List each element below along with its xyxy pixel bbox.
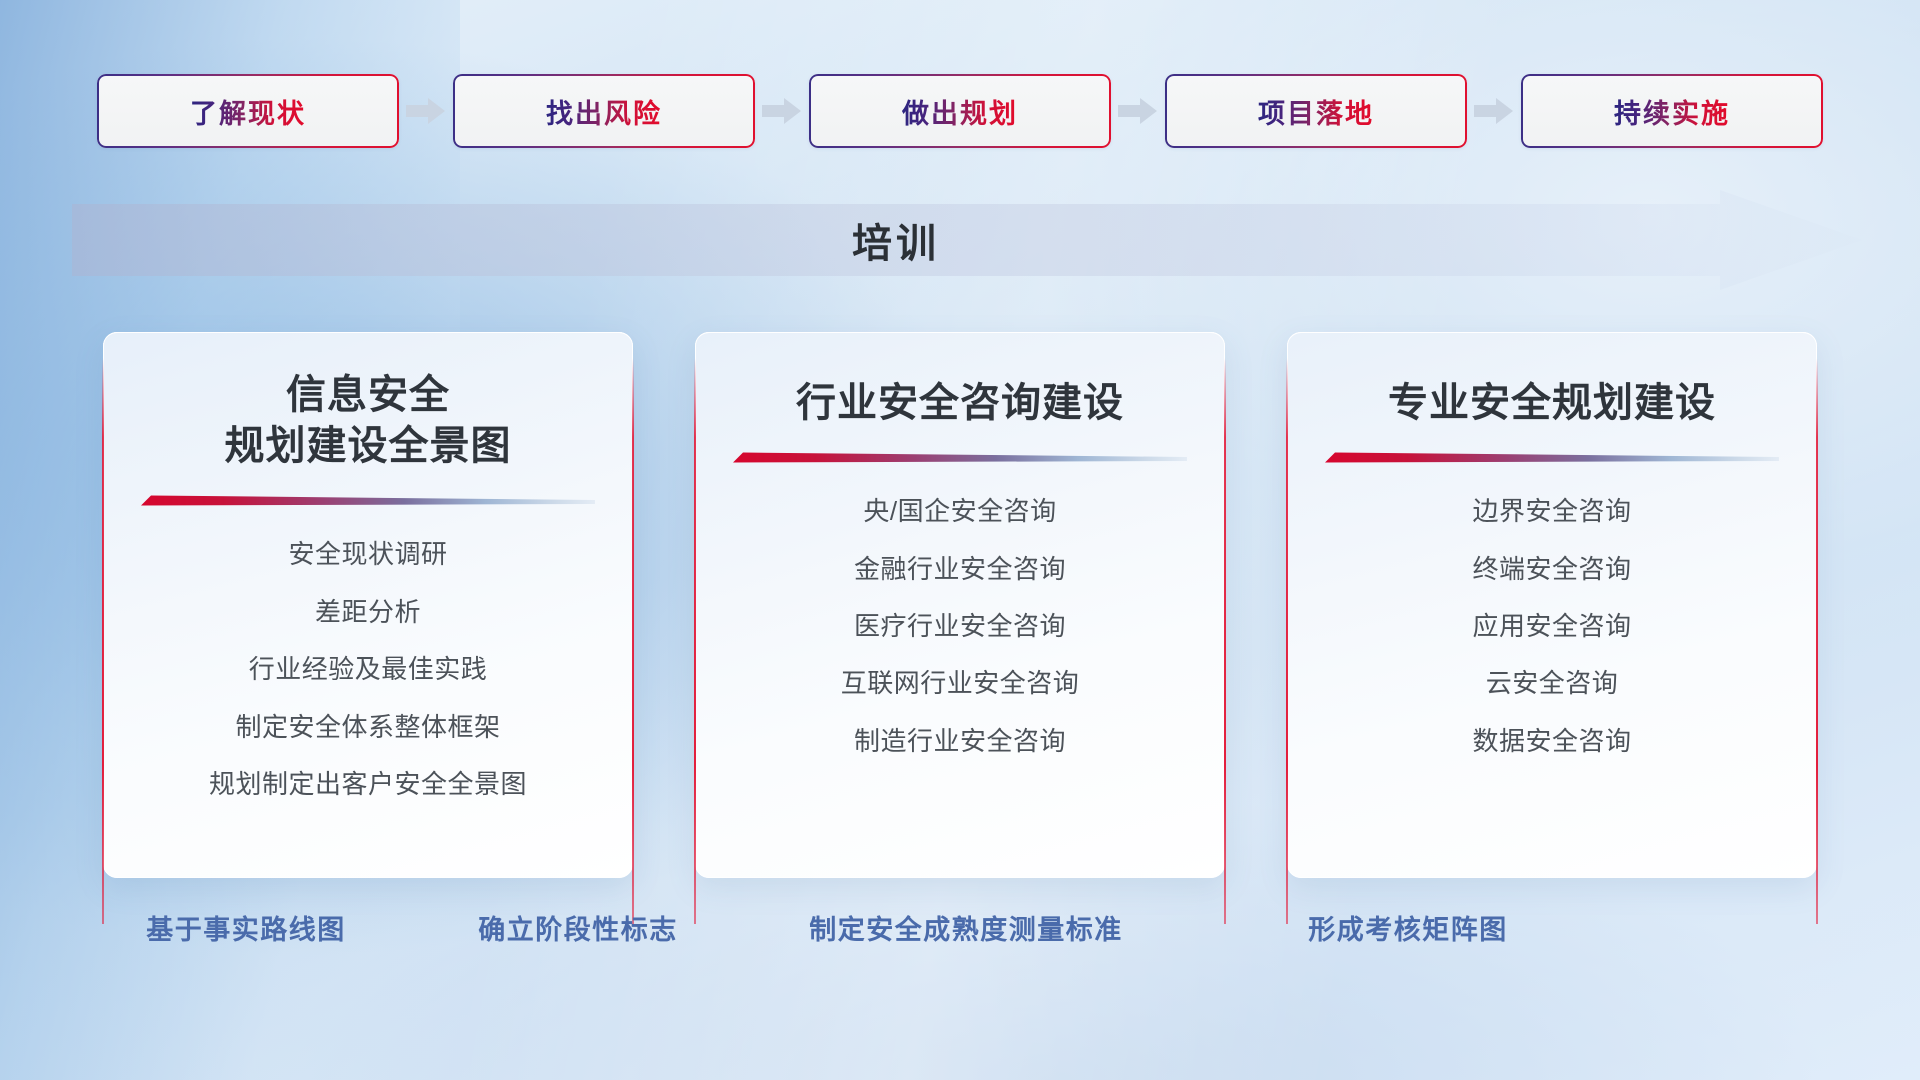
gradient-divider-icon [1325,451,1779,465]
process-step-5[interactable]: 持续实施 [1521,74,1823,148]
gradient-divider-icon [733,451,1187,465]
card-list-item: 行业经验及最佳实践 [249,645,488,694]
step-arrow-icon [1111,74,1165,148]
process-step-4[interactable]: 项目落地 [1165,74,1467,148]
arrow-right-icon [762,96,802,126]
card-list: 央/国企安全咨询金融行业安全咨询医疗行业安全咨询互联网行业安全咨询制造行业安全咨… [695,487,1225,766]
process-step-label: 做出规划 [902,92,1018,131]
card-list-item: 云安全咨询 [1486,659,1619,708]
card-title: 行业安全咨询建设 [796,378,1124,429]
step-arrow-icon [1467,74,1521,148]
card-list-item: 差距分析 [315,588,421,637]
card-edge-accent-left [1286,358,1288,924]
process-step-2[interactable]: 找出风险 [453,74,755,148]
banner-label: 培训 [72,190,1720,290]
footnote-row: 基于事实路线图确立阶段性标志制定安全成熟度测量标准形成考核矩阵图 [0,908,1920,968]
process-step-row: 了解现状 找出风险 做出规划 项目落地 持续实施 [0,74,1920,148]
footnote-label-1: 基于事实路线图 [146,908,346,947]
card-list-item: 终端安全咨询 [1472,545,1631,594]
card-list-item: 数据安全咨询 [1472,717,1631,766]
footnote-label-4: 形成考核矩阵图 [1308,908,1508,947]
card-list-item: 医疗行业安全咨询 [854,602,1066,651]
card-list-item: 应用安全咨询 [1472,602,1631,651]
process-step-3[interactable]: 做出规划 [809,74,1111,148]
process-step-1[interactable]: 了解现状 [97,74,399,148]
card-title: 专业安全规划建设 [1388,378,1716,429]
process-step-label: 找出风险 [546,92,662,131]
card-title: 信息安全 规划建设全景图 [225,370,512,472]
arrow-right-icon [406,96,446,126]
step-arrow-icon [755,74,809,148]
service-card-3[interactable]: 专业安全规划建设 边界安全咨询终端安全咨询应用安全咨询云安全咨询数据安全咨询 [1287,332,1817,878]
card-list-item: 制造行业安全咨询 [854,717,1066,766]
card-row: 信息安全 规划建设全景图 安全现状调研差距分析行业经验及最佳实践制定安全体系整体… [0,332,1920,888]
arrow-right-icon [1118,96,1158,126]
card-edge-accent-right [1224,358,1226,924]
card-list: 安全现状调研差距分析行业经验及最佳实践制定安全体系整体框架规划制定出客户安全全景… [103,530,633,809]
service-card-1[interactable]: 信息安全 规划建设全景图 安全现状调研差距分析行业经验及最佳实践制定安全体系整体… [103,332,633,878]
process-step-label: 项目落地 [1258,92,1374,131]
process-step-label: 持续实施 [1614,92,1730,131]
card-edge-accent-right [1816,358,1818,924]
card-edge-accent-left [102,358,104,924]
gradient-divider-icon [141,494,595,508]
card-list-item: 互联网行业安全咨询 [841,659,1080,708]
card-list-item: 金融行业安全咨询 [854,545,1066,594]
card-edge-accent-right [632,358,634,924]
process-step-label: 了解现状 [190,92,306,131]
step-arrow-icon [399,74,453,148]
card-list: 边界安全咨询终端安全咨询应用安全咨询云安全咨询数据安全咨询 [1287,487,1817,766]
card-list-item: 规划制定出客户安全全景图 [209,760,527,809]
service-card-2[interactable]: 行业安全咨询建设 央/国企安全咨询金融行业安全咨询医疗行业安全咨询互联网行业安全… [695,332,1225,878]
card-list-item: 央/国企安全咨询 [863,487,1056,536]
card-list-item: 制定安全体系整体框架 [235,703,500,752]
footnote-label-3: 制定安全成熟度测量标准 [809,908,1123,947]
footnote-label-2: 确立阶段性标志 [478,908,678,947]
card-edge-accent-left [694,358,696,924]
training-banner: 培训 [72,190,1862,290]
card-list-item: 边界安全咨询 [1472,487,1631,536]
arrow-right-icon [1474,96,1514,126]
card-list-item: 安全现状调研 [288,530,447,579]
